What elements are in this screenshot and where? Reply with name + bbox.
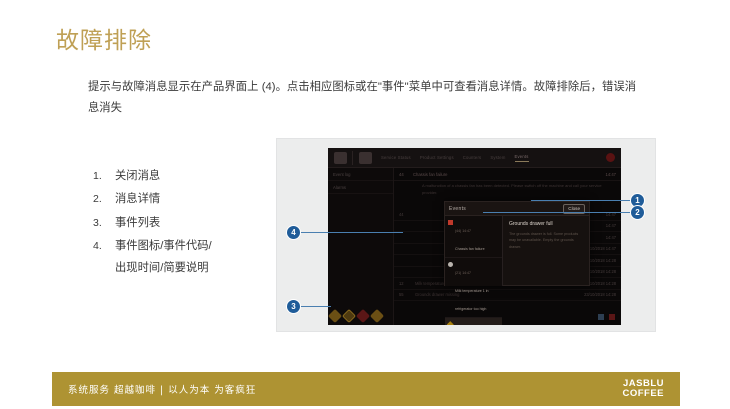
- tab-service-status[interactable]: Service Status: [381, 155, 411, 160]
- list-item-index: 3.: [93, 215, 115, 231]
- event-meta: (44) 14:47: [455, 229, 471, 233]
- callout-1-line: [531, 200, 632, 201]
- device-screen: Service Status Product Settings Counters…: [328, 148, 621, 325]
- callout-4-marker: 4: [287, 226, 300, 239]
- row-code: 44: [399, 212, 415, 217]
- event-detail-body: The grounds drawer is full. Some product…: [509, 231, 584, 250]
- slide-root: 故障排除 提示与故障消息显示在产品界面上 (4)。点击相应图标或在"事件"菜单中…: [0, 0, 730, 409]
- row-time: 23/10/2018 14:28: [584, 292, 616, 297]
- event-name: Milk temperature 1 in refrigerator too h…: [455, 289, 489, 311]
- list-item-label: 消息详情: [115, 193, 160, 205]
- device-sidebar: Event log Alarms: [328, 168, 394, 325]
- event-list: (44) 14:47 Chassis fan failure (21) 14:4…: [445, 216, 503, 286]
- callout-4-line: [299, 232, 403, 233]
- list-item-label: 事件列表: [115, 217, 160, 229]
- row-time: 14:47: [606, 235, 616, 240]
- callout-3-line: [299, 306, 331, 307]
- eye-icon[interactable]: [334, 152, 347, 164]
- status-icon-bar: [330, 311, 382, 321]
- list-item: 1. 关闭消息: [93, 168, 283, 184]
- row-code: 55: [399, 292, 415, 297]
- severity-icon-grey: [448, 262, 453, 267]
- event-icon-amber-2[interactable]: [370, 309, 384, 323]
- tab-product-settings[interactable]: Product Settings: [420, 155, 454, 160]
- events-dialog-title: Events: [449, 206, 466, 212]
- table-row[interactable]: 55 Grounds drawer missing 23/10/2018 14:…: [394, 290, 621, 302]
- events-dialog: Events Close (44) 14:47 Chassis fan fail…: [444, 201, 590, 286]
- callout-2-marker: 2: [631, 206, 644, 219]
- device-toolbar: Service Status Product Settings Counters…: [328, 148, 621, 168]
- tab-system[interactable]: System: [490, 155, 505, 160]
- row-time: 14:47: [606, 223, 616, 228]
- numbered-list: 1. 关闭消息 2. 消息详情 3. 事件列表 4. 事件图标/事件代码/ 出现…: [93, 168, 283, 283]
- callout-3-marker: 3: [287, 300, 300, 313]
- list-item-label: 关闭消息: [115, 170, 160, 182]
- event-meta: (21) 14:47: [455, 271, 471, 275]
- screenshot-panel: Service Status Product Settings Counters…: [276, 138, 656, 332]
- list-item-index: 2.: [93, 191, 115, 207]
- sidebar-item-event-log[interactable]: Event log: [328, 168, 393, 181]
- event-icon-outline[interactable]: [342, 309, 356, 323]
- tab-events[interactable]: Events: [515, 154, 529, 162]
- footer-tagline: 系统服务 超越咖啡 | 以人为本 为客疯狂: [68, 382, 256, 396]
- event-name: Chassis fan failure: [455, 247, 485, 251]
- toolbar-divider: [352, 151, 353, 165]
- content-header-title: Chassis fan failure: [413, 172, 606, 177]
- events-dialog-body: (44) 14:47 Chassis fan failure (21) 14:4…: [445, 216, 589, 286]
- event-icon-red[interactable]: [356, 309, 370, 323]
- power-icon[interactable]: [606, 153, 615, 162]
- body-paragraph: 提示与故障消息显示在产品界面上 (4)。点击相应图标或在"事件"菜单中可查看消息…: [88, 77, 636, 119]
- callout-2-line: [483, 212, 632, 213]
- content-description: A malfunction of a chassis fan has been …: [422, 183, 613, 197]
- list-item-index: 1.: [93, 168, 115, 184]
- row-code: 12: [399, 281, 415, 286]
- filter-icon[interactable]: [598, 314, 604, 320]
- content-header-row: 44 Chassis fan failure 14:47: [394, 168, 621, 181]
- list-item: 2. 消息详情: [93, 191, 283, 207]
- content-header-code: 44: [399, 172, 413, 177]
- list-item-label-line2: 出现时间/简要说明: [115, 260, 283, 276]
- event-detail-pane: Grounds drawer full The grounds drawer i…: [503, 216, 589, 286]
- content-footer-actions: [598, 314, 615, 320]
- footer-bar: 系统服务 超越咖啡 | 以人为本 为客疯狂 JASBLU COFFEE: [52, 372, 680, 406]
- event-list-item[interactable]: (19) 14:47 Grounds drawer full: [445, 318, 502, 325]
- list-item: 4. 事件图标/事件代码/ 出现时间/简要说明: [93, 238, 283, 276]
- brand-logo-line2: COFFEE: [622, 389, 664, 399]
- event-list-item[interactable]: (44) 14:47 Chassis fan failure: [445, 216, 502, 258]
- event-list-item[interactable]: (21) 14:47 Milk temperature 1 in refrige…: [445, 258, 502, 318]
- event-icon-amber[interactable]: [328, 309, 342, 323]
- list-icon[interactable]: [359, 152, 372, 164]
- list-item: 3. 事件列表: [93, 215, 283, 231]
- brand-logo: JASBLU COFFEE: [622, 379, 664, 400]
- list-item-label: 事件图标/事件代码/: [115, 240, 212, 252]
- list-item-index: 4.: [93, 238, 115, 276]
- events-dialog-header: Events Close: [445, 202, 589, 216]
- severity-icon-amber: [447, 321, 453, 325]
- content-header-time: 14:47: [606, 172, 616, 177]
- tab-counters[interactable]: Counters: [463, 155, 482, 160]
- page-title: 故障排除: [56, 27, 152, 55]
- event-detail-title: Grounds drawer full: [509, 221, 584, 227]
- severity-icon-red: [448, 220, 453, 225]
- delete-icon[interactable]: [609, 314, 615, 320]
- sidebar-item-alarms[interactable]: Alarms: [328, 181, 393, 194]
